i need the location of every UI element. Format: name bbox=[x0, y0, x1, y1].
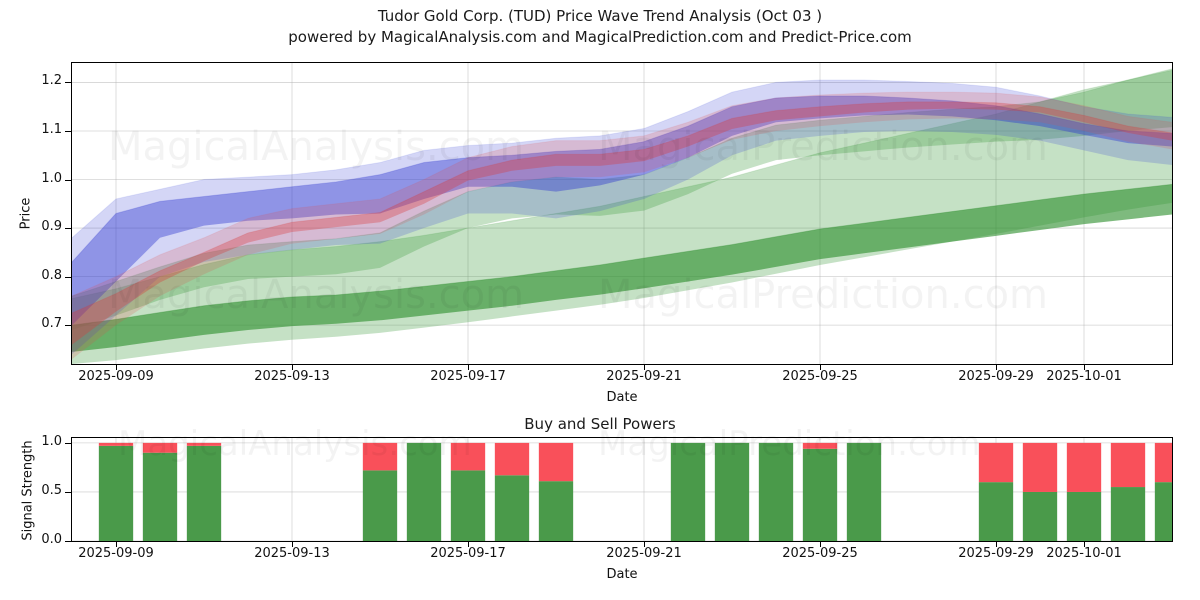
y-tick-mark bbox=[65, 82, 71, 83]
x-tick-label-price: 2025-09-21 bbox=[606, 369, 682, 384]
bar-group[interactable] bbox=[495, 443, 529, 541]
y-tick-mark bbox=[65, 443, 71, 444]
chart-title: Tudor Gold Corp. (TUD) Price Wave Trend … bbox=[0, 6, 1200, 27]
bar-group[interactable] bbox=[759, 443, 793, 541]
sell-power-bar bbox=[1067, 443, 1101, 492]
sell-power-bar bbox=[363, 443, 397, 470]
x-tick-label-signal: 2025-09-13 bbox=[254, 546, 330, 561]
x-tick-mark bbox=[468, 542, 469, 547]
sell-power-bar bbox=[495, 443, 529, 475]
bar-group[interactable] bbox=[715, 443, 749, 541]
buy-power-bar bbox=[1023, 492, 1057, 541]
buy-power-bar bbox=[99, 446, 133, 541]
x-tick-mark bbox=[292, 542, 293, 547]
x-tick-label-price: 2025-09-13 bbox=[254, 369, 330, 384]
bar-group[interactable] bbox=[847, 443, 881, 541]
page-title: Tudor Gold Corp. (TUD) Price Wave Trend … bbox=[0, 6, 1200, 48]
y-axis-label-price: Price bbox=[19, 174, 34, 254]
price-wave-svg bbox=[72, 63, 1172, 364]
x-tick-label-signal: 2025-10-01 bbox=[1046, 546, 1122, 561]
sell-power-bar bbox=[1111, 443, 1145, 487]
x-tick-label-signal: 2025-09-09 bbox=[78, 546, 154, 561]
x-tick-mark bbox=[468, 365, 469, 370]
x-tick-mark bbox=[1084, 542, 1085, 547]
x-tick-mark bbox=[644, 365, 645, 370]
buy-power-bar bbox=[1067, 492, 1101, 541]
chart-page: Tudor Gold Corp. (TUD) Price Wave Trend … bbox=[0, 0, 1200, 600]
buy-power-bar bbox=[495, 475, 529, 541]
x-tick-label-price: 2025-09-17 bbox=[430, 369, 506, 384]
sell-power-bar bbox=[99, 443, 133, 446]
bar-group[interactable] bbox=[1023, 443, 1057, 541]
sell-power-bar bbox=[143, 443, 177, 453]
y-tick-label-price: 1.1 bbox=[0, 122, 62, 137]
x-tick-mark bbox=[116, 365, 117, 370]
x-tick-mark bbox=[644, 542, 645, 547]
sell-power-bar bbox=[979, 443, 1013, 482]
x-tick-label-signal: 2025-09-21 bbox=[606, 546, 682, 561]
y-tick-mark bbox=[65, 325, 71, 326]
x-tick-mark bbox=[292, 365, 293, 370]
bar-group[interactable] bbox=[539, 443, 573, 541]
buy-power-bar bbox=[803, 449, 837, 541]
x-tick-label-price: 2025-09-25 bbox=[782, 369, 858, 384]
x-tick-label-signal: 2025-09-29 bbox=[958, 546, 1034, 561]
buy-power-bar bbox=[1111, 487, 1145, 541]
bar-group[interactable] bbox=[1155, 443, 1172, 541]
buy-power-bar bbox=[363, 470, 397, 541]
buy-power-bar bbox=[979, 482, 1013, 541]
bar-group[interactable] bbox=[671, 443, 705, 541]
sell-power-bar bbox=[1023, 443, 1057, 492]
y-tick-mark bbox=[65, 131, 71, 132]
y-tick-mark bbox=[65, 180, 71, 181]
buy-power-bar bbox=[143, 453, 177, 541]
x-tick-mark bbox=[116, 542, 117, 547]
y-axis-label-signal: Signal Strength bbox=[21, 431, 36, 551]
y-tick-label-price: 0.8 bbox=[0, 268, 62, 283]
x-tick-label-price: 2025-09-09 bbox=[78, 369, 154, 384]
bar-group[interactable] bbox=[407, 443, 441, 541]
y-tick-label-price: 1.2 bbox=[0, 73, 62, 88]
sell-power-bar bbox=[187, 443, 221, 446]
bar-group[interactable] bbox=[99, 443, 133, 541]
x-tick-label-price: 2025-09-29 bbox=[958, 369, 1034, 384]
buy-power-bar bbox=[847, 443, 881, 541]
x-axis-label-price: Date bbox=[606, 390, 637, 405]
bar-group[interactable] bbox=[1111, 443, 1145, 541]
buy-power-bar bbox=[715, 443, 749, 541]
sell-power-bar bbox=[451, 443, 485, 470]
x-tick-mark bbox=[996, 542, 997, 547]
bar-group[interactable] bbox=[451, 443, 485, 541]
buy-sell-plot-area bbox=[71, 437, 1173, 542]
bar-group[interactable] bbox=[363, 443, 397, 541]
buy-power-bar bbox=[187, 446, 221, 541]
sell-power-bar bbox=[803, 443, 837, 449]
bar-group[interactable] bbox=[803, 443, 837, 541]
x-tick-mark bbox=[820, 365, 821, 370]
bar-group[interactable] bbox=[1067, 443, 1101, 541]
bar-group[interactable] bbox=[979, 443, 1013, 541]
buy-sell-svg bbox=[72, 438, 1172, 541]
y-tick-mark bbox=[65, 277, 71, 278]
buy-power-bar bbox=[671, 443, 705, 541]
x-tick-label-price: 2025-10-01 bbox=[1046, 369, 1122, 384]
sell-power-bar bbox=[1155, 443, 1172, 482]
price-wave-plot-area bbox=[71, 62, 1173, 365]
chart-subtitle: powered by MagicalAnalysis.com and Magic… bbox=[0, 27, 1200, 48]
buy-sell-title: Buy and Sell Powers bbox=[0, 415, 1200, 433]
y-tick-mark bbox=[65, 228, 71, 229]
buy-power-bar bbox=[451, 470, 485, 541]
y-tick-mark bbox=[65, 541, 71, 542]
x-tick-label-signal: 2025-09-25 bbox=[782, 546, 858, 561]
y-tick-label-price: 0.7 bbox=[0, 316, 62, 331]
x-tick-mark bbox=[996, 365, 997, 370]
bar-group[interactable] bbox=[187, 443, 221, 541]
bar-group[interactable] bbox=[143, 443, 177, 541]
buy-power-bar bbox=[1155, 482, 1172, 541]
sell-power-bar bbox=[539, 443, 573, 481]
y-tick-mark bbox=[65, 492, 71, 493]
x-tick-label-signal: 2025-09-17 bbox=[430, 546, 506, 561]
x-tick-mark bbox=[820, 542, 821, 547]
buy-power-bar bbox=[759, 443, 793, 541]
x-axis-label-signal: Date bbox=[606, 567, 637, 582]
x-tick-mark bbox=[1084, 365, 1085, 370]
buy-power-bar bbox=[407, 443, 441, 541]
buy-power-bar bbox=[539, 481, 573, 541]
